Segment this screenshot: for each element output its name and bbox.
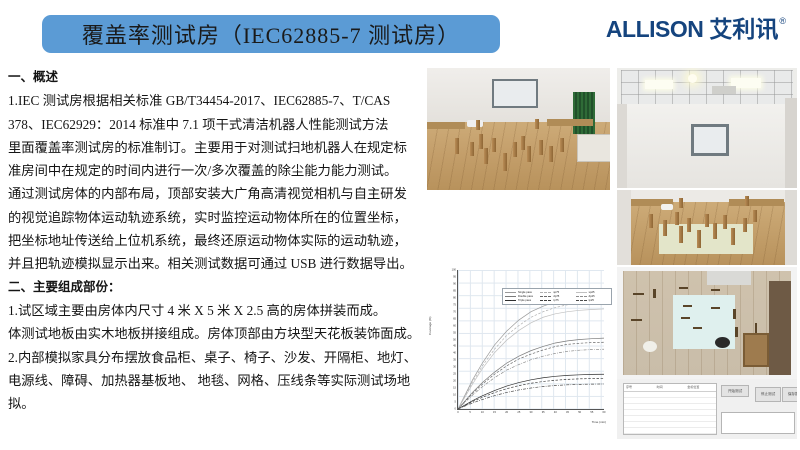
obstacle-post bbox=[492, 138, 496, 152]
chart-plot-area: Single passsp75sp25Double passdp75dp25Tr… bbox=[457, 270, 604, 410]
floor-lamp-base bbox=[661, 204, 673, 210]
chart-y-tick: 85 bbox=[453, 289, 456, 292]
chart-legend-label: dp25 bbox=[589, 295, 595, 298]
obstacle-post bbox=[753, 210, 757, 222]
chart-legend-item: sp75 bbox=[540, 291, 573, 294]
body-line: 1.IEC 测试房根据相关标准 GB/T34454-2017、IEC62885-… bbox=[8, 89, 422, 112]
table-header-cell: 序号 bbox=[624, 384, 655, 391]
chart-y-tick: 25 bbox=[453, 373, 456, 376]
chart-legend-label: tp25 bbox=[589, 299, 594, 302]
description-text: 一、概述1.IEC 测试房根据相关标准 GB/T34454-2017、IEC62… bbox=[8, 66, 422, 415]
body-line: 电源线、障碍、加热器基板地、 地毯、网格、压线条等实际测试场地 bbox=[8, 369, 422, 392]
chart-legend-label: dp75 bbox=[553, 295, 559, 298]
obstacle-marker bbox=[733, 309, 736, 319]
chart-legend-label: sp25 bbox=[589, 291, 595, 294]
chart-x-tick: 50 bbox=[578, 411, 581, 414]
body-line: 体测试地板由实木地板拼接组成。房体顶部由方块型天花板装饰面成。 bbox=[8, 322, 422, 345]
ceiling-vent bbox=[707, 271, 751, 285]
chart-legend-swatch bbox=[540, 296, 551, 297]
chart-legend-item: tp25 bbox=[576, 299, 609, 302]
photo-test-room-carpet bbox=[617, 190, 797, 265]
baseboard-right bbox=[547, 119, 593, 126]
chart-y-tick: 55 bbox=[453, 331, 456, 334]
chart-x-tick: 60 bbox=[603, 411, 606, 414]
chart-series-line bbox=[458, 342, 604, 409]
obstacle-post bbox=[455, 138, 459, 154]
obstacle-post bbox=[527, 146, 531, 162]
chart-x-tick: 0 bbox=[457, 411, 458, 414]
obstacle-post bbox=[649, 214, 653, 228]
chart-legend-label: Single pass bbox=[518, 291, 532, 294]
obstacle-marker bbox=[711, 307, 720, 309]
chart-x-axis-label: Time (min) bbox=[592, 420, 606, 424]
obstacle-marker bbox=[633, 293, 644, 295]
obstacle-post bbox=[476, 120, 480, 130]
obstacle-post bbox=[663, 220, 667, 236]
wall-corner-right bbox=[785, 190, 797, 265]
body-line: 拟。 bbox=[8, 392, 422, 415]
chart-legend-swatch bbox=[540, 292, 551, 293]
obstacle-post bbox=[731, 228, 735, 245]
photo-test-room-ceiling bbox=[617, 68, 797, 188]
chart-y-tick: 20 bbox=[453, 380, 456, 383]
obstacle-post bbox=[705, 214, 709, 227]
photo-test-room-posts bbox=[427, 68, 610, 190]
chart-y-tick: 95 bbox=[453, 275, 456, 278]
chart-series-line bbox=[458, 384, 604, 409]
chart-legend-label: tp75 bbox=[553, 299, 558, 302]
table-header-row: 序号 时间 坐标位置 bbox=[624, 384, 716, 392]
wall-corner-left bbox=[617, 104, 627, 188]
body-line: 2.内部模拟家具分布摆放食品柜、桌子、椅子、沙发、开隔柜、地灯、 bbox=[8, 346, 422, 369]
obstacle-marker bbox=[711, 289, 720, 291]
test-carpet bbox=[659, 224, 753, 254]
white-box-obstacle bbox=[577, 134, 610, 162]
chart-x-tick: 15 bbox=[493, 411, 496, 414]
brand-name-cn: 艾利讯 bbox=[709, 16, 778, 42]
save-data-button[interactable]: 保存数据 bbox=[782, 387, 797, 402]
chart-y-tick: 10 bbox=[453, 394, 456, 397]
obstacle-post bbox=[687, 218, 691, 232]
chart-y-tick: 100 bbox=[452, 269, 456, 272]
obstacle-post bbox=[713, 223, 717, 239]
obstacle-post bbox=[679, 198, 683, 208]
chart-x-tick: 10 bbox=[481, 411, 484, 414]
photo-tracking-software-ui: 序号 时间 坐标位置 开始测试 打开相机 停止测试 保存数据 bbox=[617, 267, 797, 439]
obstacle-post bbox=[549, 146, 553, 162]
obstacle-post bbox=[521, 136, 525, 150]
camera-overhead-view bbox=[623, 271, 791, 375]
chart-legend-swatch bbox=[576, 296, 587, 297]
brand-name-en: ALLISON bbox=[606, 16, 703, 42]
chart-legend-item: Triple pass bbox=[505, 299, 538, 302]
chart-series-line bbox=[458, 374, 604, 409]
chart-legend-label: Triple pass bbox=[518, 299, 531, 302]
obstacle-post bbox=[535, 119, 539, 129]
chart-x-tick: 35 bbox=[542, 411, 545, 414]
obstacle-marker bbox=[679, 287, 688, 289]
body-line: 准房间中在规定的时间内进行一次/多次覆盖的除尘能力能力测试。 bbox=[8, 159, 422, 182]
obstacle-post bbox=[679, 226, 683, 243]
chart-legend-swatch bbox=[540, 300, 551, 301]
software-control-panel: 序号 时间 坐标位置 开始测试 打开相机 停止测试 保存数据 bbox=[617, 379, 797, 439]
body-line: 把坐标地址传送给上位机系统，最终还原运动物体实际的运动轨迹， bbox=[8, 229, 422, 252]
chart-x-tick: 20 bbox=[505, 411, 508, 414]
chart-legend-label: Double pass bbox=[518, 295, 533, 298]
registered-trademark-icon: ® bbox=[779, 16, 786, 26]
chart-y-tick: 75 bbox=[453, 303, 456, 306]
obstacle-post bbox=[723, 215, 727, 229]
wall-corner-left bbox=[617, 190, 631, 265]
obstacle-post bbox=[513, 142, 517, 157]
stop-test-button[interactable]: 停止测试 bbox=[755, 387, 781, 402]
body-line: 通过测试房体的内部布局，顶部安装大广角高清视觉相机与自主研发 bbox=[8, 182, 422, 205]
section-heading: 一、概述 bbox=[8, 66, 422, 89]
chart-legend-swatch bbox=[505, 296, 516, 297]
chart-y-tick: 0 bbox=[455, 408, 456, 411]
body-line: 的视觉追踪物体运动轨迹系统，实时监控运动物体所在的位置坐标， bbox=[8, 206, 422, 229]
chart-x-tick: 30 bbox=[530, 411, 533, 414]
chart-series-line bbox=[458, 295, 604, 409]
furniture-area bbox=[769, 281, 791, 375]
chart-y-tick: 15 bbox=[453, 387, 456, 390]
baseboard-left bbox=[427, 122, 465, 129]
body-line: 并且把轨迹模拟显示出来。相关测试数据可通过 USB 进行数据导出。 bbox=[8, 252, 422, 275]
measurement-table: 序号 时间 坐标位置 bbox=[623, 383, 717, 435]
ceiling-panel-light bbox=[645, 80, 673, 89]
wall-mounted-panel bbox=[691, 124, 729, 156]
chart-series-line bbox=[458, 338, 604, 409]
chart-y-tick: 70 bbox=[453, 310, 456, 313]
ceiling-bulb-light bbox=[688, 74, 697, 83]
chart-legend-item: Double pass bbox=[505, 295, 538, 298]
chart-y-tick: 60 bbox=[453, 324, 456, 327]
robot-marker bbox=[715, 337, 730, 348]
chart-legend-item: dp25 bbox=[576, 295, 609, 298]
section-heading: 二、主要组成部份： bbox=[8, 276, 422, 299]
wall-mounted-panel bbox=[492, 79, 538, 108]
body-line: 1.试区域主要由房体内尺寸 4 米 X 5 米 X 2.5 高的房体拼装而成。 bbox=[8, 299, 422, 322]
chart-legend: Single passsp75sp25Double passdp75dp25Tr… bbox=[502, 288, 612, 305]
green-curtain bbox=[573, 92, 595, 134]
obstacle-post bbox=[470, 142, 474, 156]
obstacle-post bbox=[745, 196, 749, 206]
chart-x-tick: 55 bbox=[590, 411, 593, 414]
chart-series-line bbox=[458, 302, 604, 409]
chart-y-tick: 40 bbox=[453, 352, 456, 355]
chart-series-line bbox=[458, 378, 604, 409]
chart-y-tick: 5 bbox=[455, 401, 456, 404]
page-title: 覆盖率测试房（IEC62885-7 测试房） bbox=[82, 18, 460, 50]
obstacle-post bbox=[503, 153, 507, 171]
obstacle-marker bbox=[693, 327, 702, 329]
floor-lamp-base bbox=[467, 120, 483, 127]
chart-x-tick: 5 bbox=[469, 411, 470, 414]
obstacle-post bbox=[539, 140, 543, 155]
body-line: 378、IEC62929：2014 标准中 7.1 项干式清洁机器人性能测试方法 bbox=[8, 113, 422, 136]
chart-x-tick: 40 bbox=[554, 411, 557, 414]
baseboard-right bbox=[729, 199, 784, 206]
chart-legend-swatch bbox=[505, 292, 516, 293]
start-test-button[interactable]: 开始测试 bbox=[721, 385, 749, 397]
table-header-cell: 坐标位置 bbox=[685, 384, 716, 391]
chart-legend-item: tp75 bbox=[540, 299, 573, 302]
brand-logo: ALLISON 艾利讯 ® bbox=[606, 16, 786, 50]
obstacle-post bbox=[697, 230, 701, 248]
table-header-cell: 时间 bbox=[655, 384, 686, 391]
obstacle-marker bbox=[631, 319, 642, 321]
chart-y-tick: 45 bbox=[453, 345, 456, 348]
chart-legend-item: dp75 bbox=[540, 295, 573, 298]
chart-y-tick: 50 bbox=[453, 338, 456, 341]
obstacle-marker bbox=[735, 327, 738, 337]
chart-y-tick: 30 bbox=[453, 366, 456, 369]
chart-y-tick: 35 bbox=[453, 359, 456, 362]
chair-marker bbox=[743, 333, 769, 367]
chart-x-tick: 45 bbox=[566, 411, 569, 414]
chart-y-tick: 80 bbox=[453, 296, 456, 299]
chart-legend-swatch bbox=[576, 292, 587, 293]
chart-legend-item: Single pass bbox=[505, 291, 538, 294]
body-line: 里面覆盖率测试房的标准制订。主要用于对测试扫地机器人在规定标 bbox=[8, 136, 422, 159]
obstacle-post bbox=[743, 218, 747, 232]
chart-y-axis-label: Coverage (%) bbox=[428, 316, 432, 335]
obstacle-post bbox=[484, 148, 488, 164]
obstacle-post bbox=[675, 212, 679, 225]
chart-x-tick: 25 bbox=[517, 411, 520, 414]
coverage-chart: Coverage (%) Time (min) Single passsp75s… bbox=[427, 260, 610, 438]
chart-legend-item: sp25 bbox=[576, 291, 609, 294]
page-title-banner: 覆盖率测试房（IEC62885-7 测试房） bbox=[42, 15, 500, 53]
log-output-area[interactable] bbox=[721, 412, 795, 434]
obstacle-marker bbox=[683, 305, 692, 307]
obstacle-post bbox=[479, 134, 483, 149]
table-row bbox=[624, 428, 716, 434]
wall-corner-right bbox=[785, 98, 797, 188]
obstacle-marker bbox=[653, 289, 656, 298]
ceiling-vent bbox=[712, 86, 736, 94]
chart-legend-label: sp75 bbox=[553, 291, 559, 294]
chart-series-line bbox=[458, 309, 604, 409]
chart-legend-swatch bbox=[576, 300, 587, 301]
obstacle-marker bbox=[681, 317, 690, 319]
floor-lamp-marker bbox=[643, 341, 657, 352]
chart-legend-swatch bbox=[505, 300, 516, 301]
chart-y-tick: 65 bbox=[453, 317, 456, 320]
obstacle-post bbox=[560, 138, 564, 152]
chart-y-tick: 90 bbox=[453, 282, 456, 285]
